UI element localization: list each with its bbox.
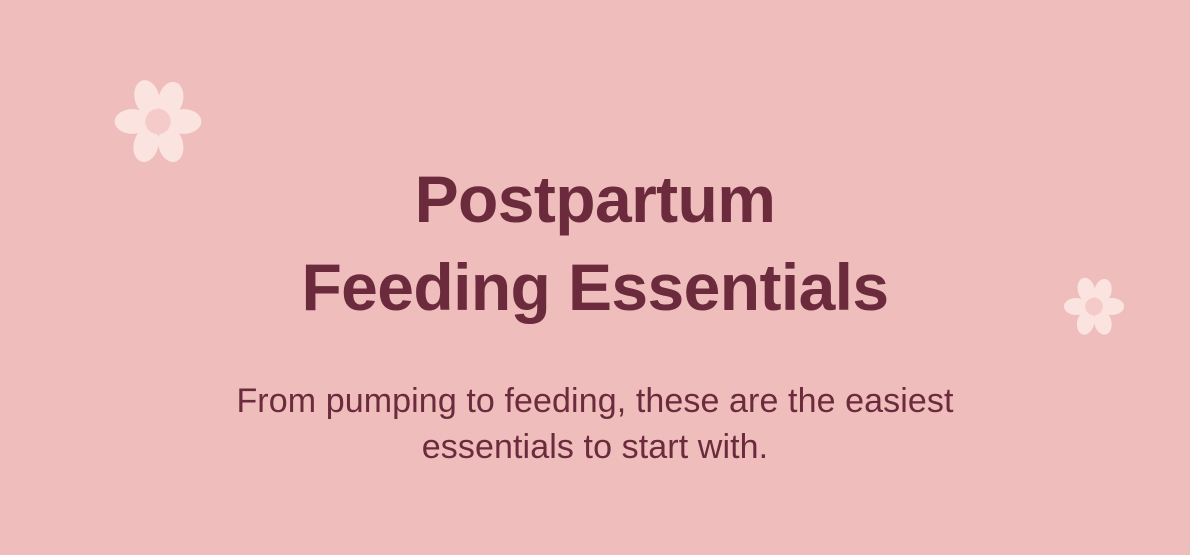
subheadline-line-1: From pumping to feeding, these are the e…: [0, 378, 1190, 424]
postpartum-feeding-banner: Postpartum Feeding Essentials From pumpi…: [0, 0, 1190, 555]
banner-text-stack: Postpartum Feeding Essentials From pumpi…: [0, 0, 1190, 555]
banner-headline: Postpartum Feeding Essentials: [0, 155, 1190, 331]
headline-line-1: Postpartum: [0, 155, 1190, 243]
banner-subheadline: From pumping to feeding, these are the e…: [0, 378, 1190, 470]
subheadline-line-2: essentials to start with.: [0, 424, 1190, 470]
headline-line-2: Feeding Essentials: [0, 243, 1190, 331]
